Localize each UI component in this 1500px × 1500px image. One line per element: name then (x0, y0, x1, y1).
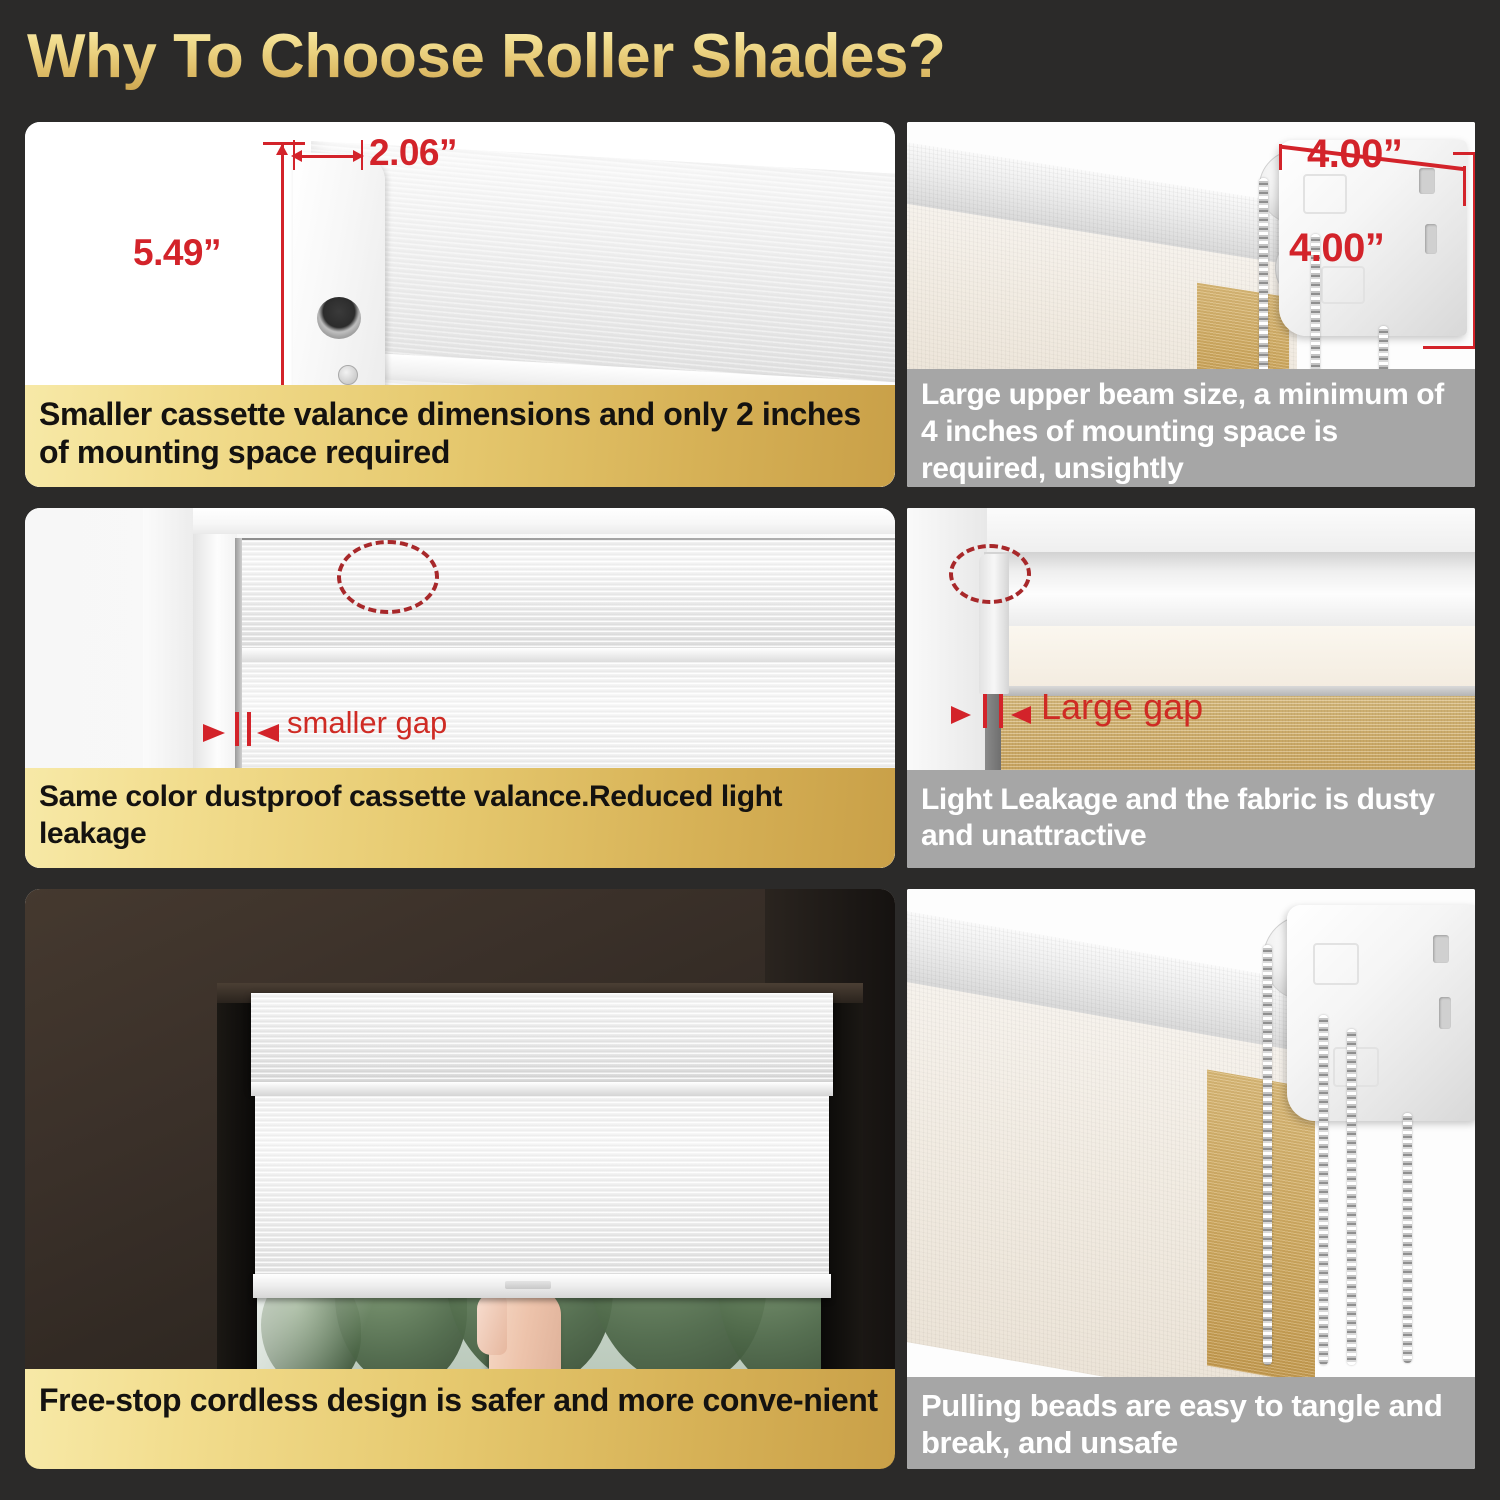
pull-tab (505, 1281, 551, 1289)
dimension-width-label: 2.06” (369, 132, 457, 174)
gap-arrow-right-icon (203, 724, 225, 742)
dim-arrow-right-icon (353, 150, 364, 162)
dim-tick-right (1463, 166, 1466, 206)
caption-con-pulling-beads: Pulling beads are easy to tangle and bre… (907, 1377, 1475, 1469)
gap-callout-label: smaller gap (287, 705, 447, 741)
bracket-emboss-icon (1333, 1047, 1379, 1087)
end-cap-screw-icon (338, 365, 358, 385)
panel-con-light-leakage: Large gap Light Leakage and the fabric i… (907, 508, 1475, 868)
bracket-slot-icon (1439, 997, 1451, 1029)
gap-callout-label: Large gap (1041, 686, 1203, 728)
dim-cap-bottom (1423, 346, 1475, 349)
highlight-ellipse-icon (949, 544, 1031, 604)
comparison-grid: 2.06” 5.49” Smaller cassette valance dim… (0, 0, 1500, 1500)
highlight-ellipse-icon (337, 540, 439, 614)
window-head-trim (193, 508, 895, 534)
valance-lip (241, 648, 895, 662)
dim-arrow-up-icon (276, 144, 288, 155)
bead-chain (1263, 945, 1272, 1365)
bead-chain (1347, 1029, 1356, 1365)
dim-arrow-left-icon (291, 150, 302, 162)
bracket-slot-icon (1419, 168, 1435, 194)
dimension-height-label: 4.00” (1289, 226, 1384, 271)
beam-underside (995, 626, 1475, 688)
caption-con-light-leakage: Light Leakage and the fabric is dusty an… (907, 770, 1475, 868)
gap-tick-right (247, 712, 251, 746)
gap-tick-right (999, 694, 1003, 728)
caption-pro-dustproof-valance: Same color dustproof cassette valance.Re… (25, 768, 895, 868)
gap-arrow-left-icon (257, 724, 279, 742)
panel-pro-cordless-design: Free-stop cordless design is safer and m… (25, 889, 895, 1469)
gap-tick-left (983, 694, 987, 728)
bracket-emboss-icon (1321, 266, 1365, 304)
bracket-slot-icon (1425, 224, 1437, 254)
caption-con-beam-size: Large upper beam size, a minimum of 4 in… (907, 369, 1475, 487)
dimension-height-label: 5.49” (133, 232, 221, 274)
panel-pro-dustproof-valance: smaller gap Same color dustproof cassett… (25, 508, 895, 868)
window-jamb (193, 508, 237, 808)
window-casing (143, 508, 195, 808)
cassette-valance (241, 540, 895, 652)
bead-chain (1319, 1015, 1328, 1365)
shade-fabric-tan (1207, 1069, 1315, 1384)
bracket-emboss-icon (1303, 174, 1347, 214)
valance-lip (251, 1082, 833, 1096)
thumb (477, 1293, 507, 1355)
caption-pro-cassette-size: Smaller cassette valance dimensions and … (25, 385, 895, 487)
shade-fabric (255, 1096, 829, 1278)
caption-pro-cordless-design: Free-stop cordless design is safer and m… (25, 1369, 895, 1469)
dim-line-height (1473, 152, 1475, 348)
panel-con-pulling-beads: Pulling beads are easy to tangle and bre… (907, 889, 1475, 1469)
gap-tick-left (235, 712, 239, 746)
bead-chain (1403, 1113, 1412, 1363)
bracket-emboss-icon (1313, 943, 1359, 985)
dim-line-width (297, 155, 359, 158)
panel-con-beam-size: 4.00” 4.00” Large upper beam size, a min… (907, 122, 1475, 487)
mounting-bracket (1287, 905, 1475, 1121)
gap-arrow-left-icon (1011, 706, 1031, 724)
panel-pro-cassette-size: 2.06” 5.49” Smaller cassette valance dim… (25, 122, 895, 487)
bracket-slot-icon (1433, 935, 1449, 963)
dim-cap-top (1453, 152, 1475, 155)
dimension-width-label: 4.00” (1307, 132, 1402, 177)
cassette-valance (251, 993, 833, 1089)
bead-chain (1259, 178, 1268, 390)
end-cap-socket-icon (317, 297, 361, 339)
gap-arrow-right-icon (951, 706, 971, 724)
side-gap (235, 538, 242, 794)
